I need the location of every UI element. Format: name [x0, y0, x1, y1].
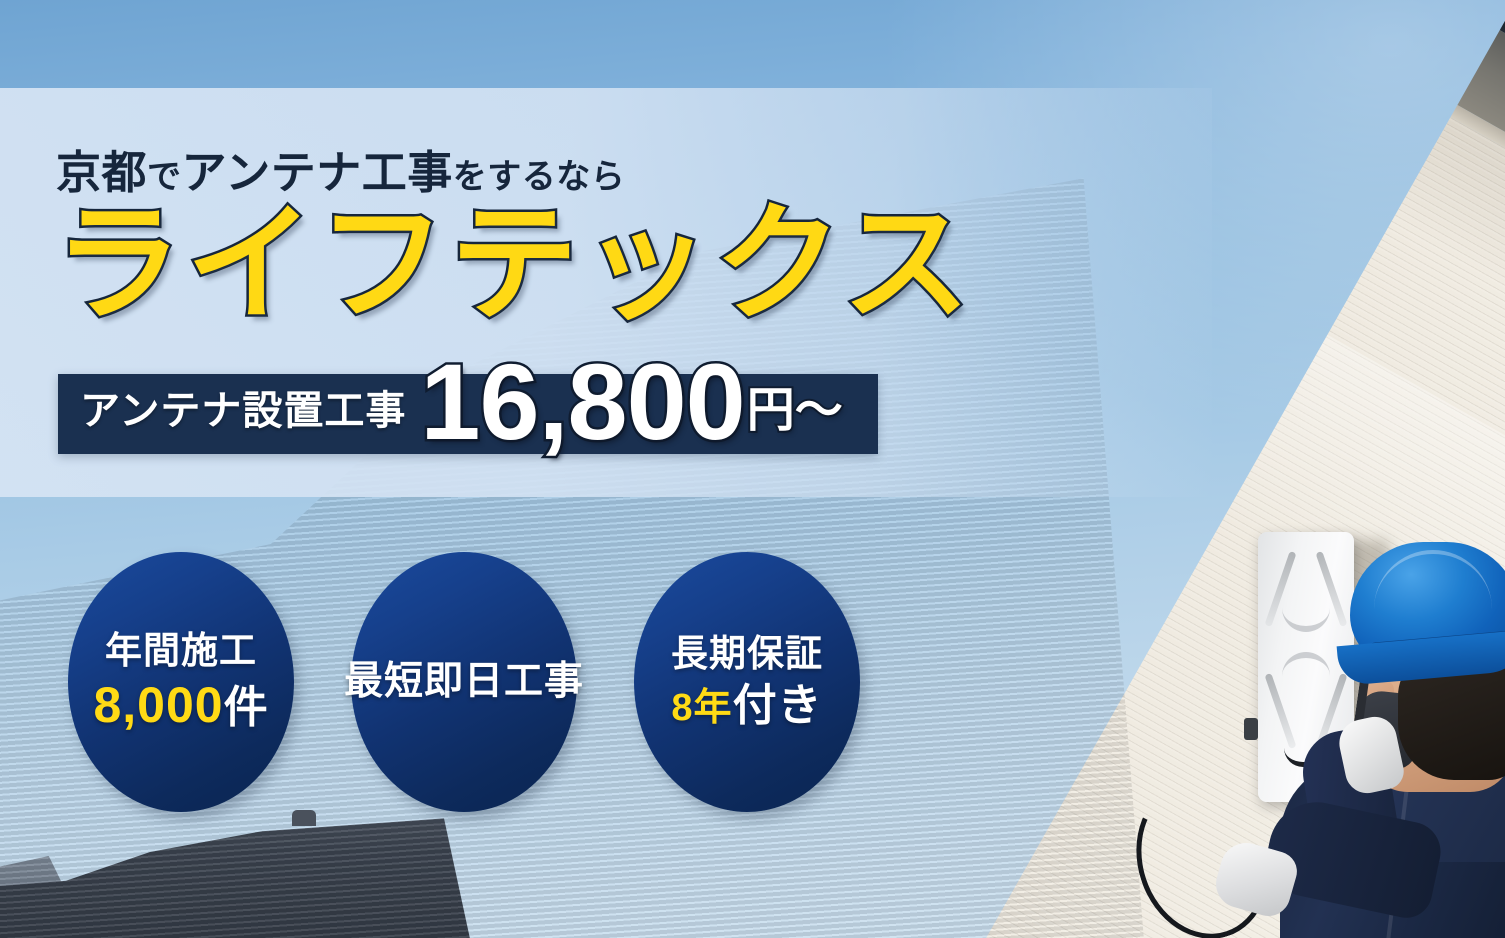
- badge-2-line-1: 最短即日工事: [344, 659, 584, 705]
- badge-1-suffix: 件: [224, 683, 269, 732]
- badge-1-highlight: 8,000: [93, 677, 223, 733]
- badge-long-term-warranty[interactable]: 長期保証 8年付き: [634, 552, 860, 812]
- subtitle-region: 京都: [56, 147, 147, 198]
- badge-3-suffix: 付き: [733, 681, 823, 730]
- subtitle-service: アンテナ工事: [182, 147, 453, 198]
- brand-name: ライフテックス: [54, 196, 974, 334]
- price-banner: アンテナ設置工事 16,800 円～: [58, 330, 898, 458]
- price-amount: 16,800: [420, 350, 744, 454]
- badge-1-line-2: 8,000件: [93, 676, 268, 735]
- feature-badges: 年間施工 8,000件 最短即日工事 長期保証 8年付き: [68, 552, 888, 814]
- badge-3-line-2: 8年付き: [671, 680, 822, 732]
- badge-1-line-1: 年間施工: [105, 629, 257, 673]
- hero-subtitle: 京都でアンテナ工事をするなら: [56, 136, 625, 201]
- subtitle-tail: をするなら: [453, 158, 626, 196]
- badge-3-line-1: 長期保証: [671, 632, 823, 676]
- subtitle-particle-de: で: [147, 158, 182, 196]
- price-unit: 円～: [747, 370, 843, 440]
- hero-content: 京都でアンテナ工事をするなら ライフテックス アンテナ設置工事 16,800 円…: [0, 0, 1505, 938]
- badge-annual-installations[interactable]: 年間施工 8,000件: [68, 552, 294, 812]
- badge-same-day-work[interactable]: 最短即日工事: [351, 552, 577, 812]
- hero-banner: 京都でアンテナ工事をするなら ライフテックス アンテナ設置工事 16,800 円…: [0, 0, 1505, 938]
- badge-3-highlight: 8年: [671, 687, 732, 729]
- price-label: アンテナ設置工事: [80, 378, 406, 436]
